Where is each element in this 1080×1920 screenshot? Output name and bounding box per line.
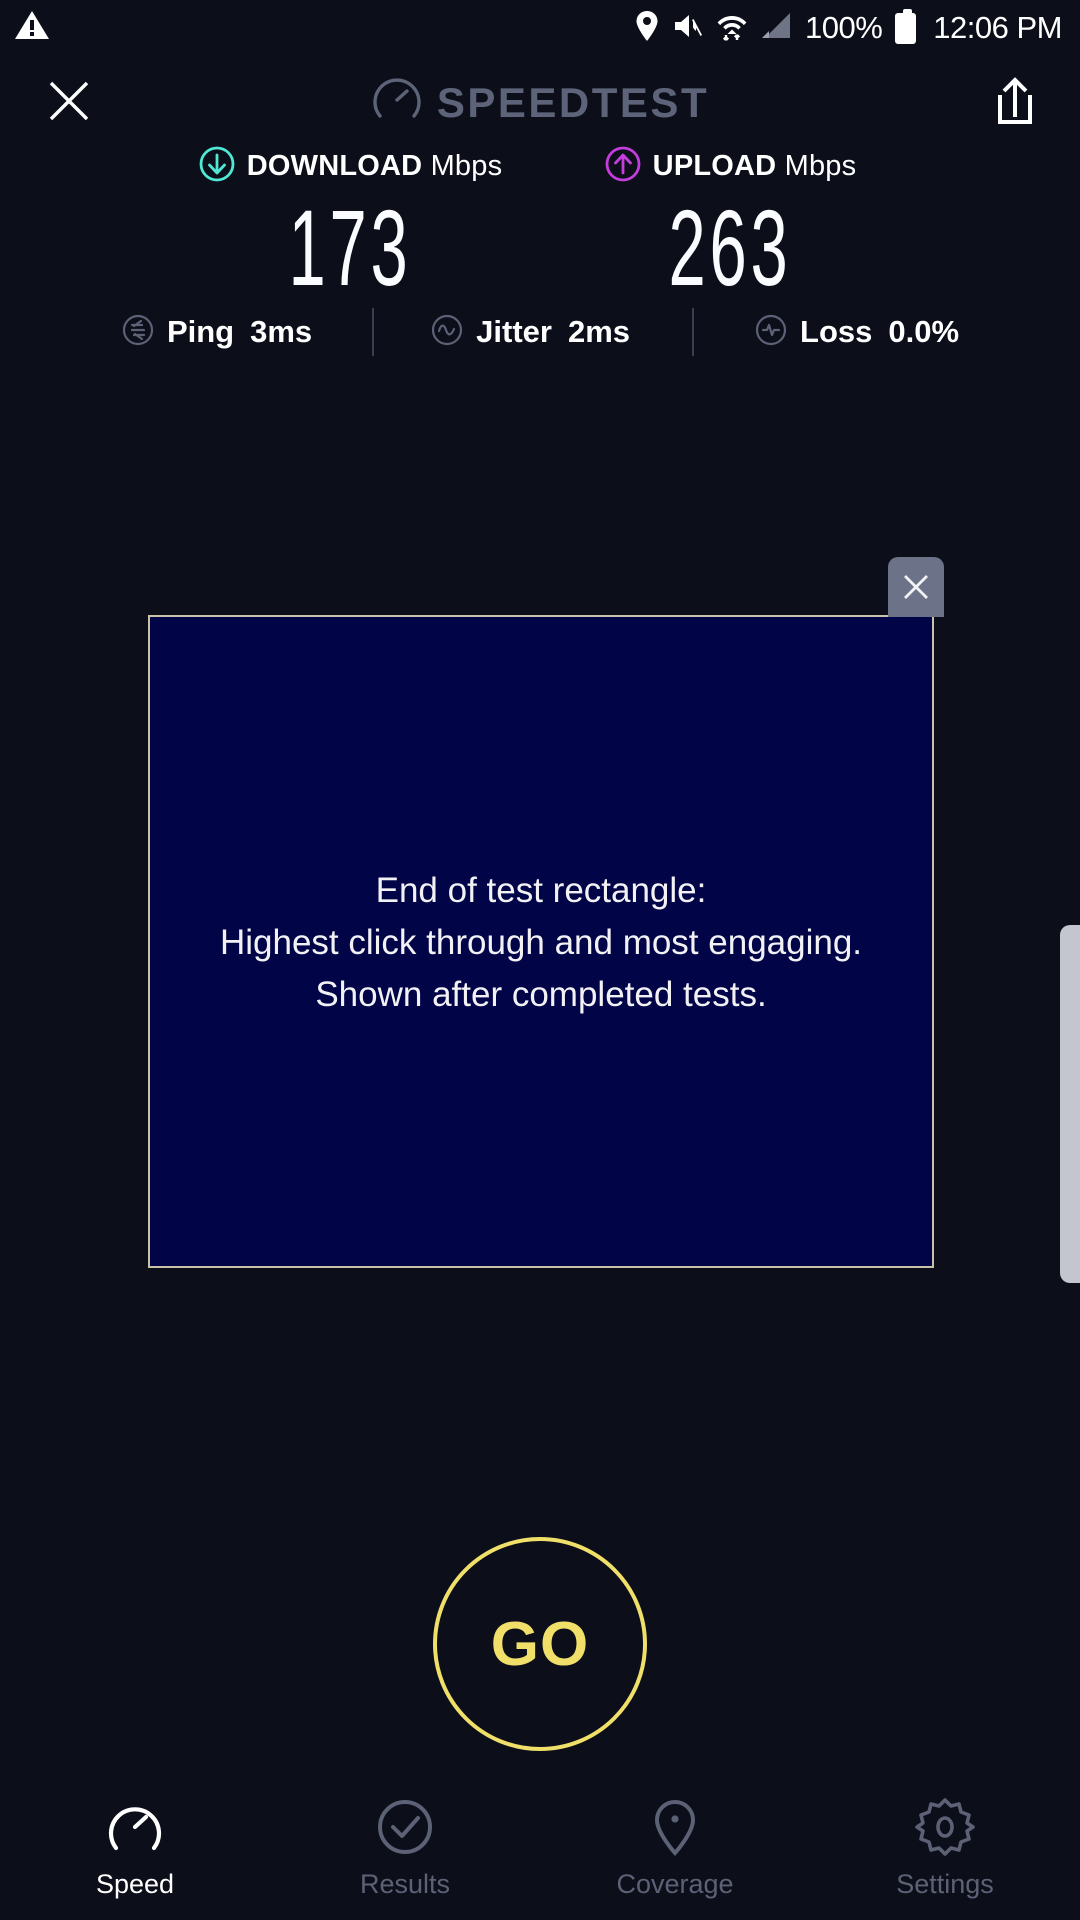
gear-icon [914, 1794, 976, 1860]
metrics-row: Ping 3ms Jitter 2ms Loss 0.0% [0, 302, 1080, 362]
speedometer-icon [371, 74, 423, 131]
ping-label: Ping [167, 314, 234, 350]
bottom-navigation: Speed Results Coverage Settings [0, 1780, 1080, 1920]
download-value: 173 [232, 194, 468, 302]
battery-percent-label: 100% [805, 10, 882, 46]
ad-creative[interactable]: End of test rectangle: Highest click thr… [148, 615, 934, 1268]
battery-full-icon [895, 13, 916, 44]
speedometer-icon [104, 1794, 166, 1860]
map-pin-icon [644, 1794, 706, 1860]
upload-value: 263 [612, 194, 848, 302]
wifi-icon [717, 10, 747, 47]
metric-divider [372, 308, 374, 356]
scrollbar[interactable] [1060, 925, 1080, 1283]
go-button-label: GO [491, 1609, 589, 1680]
status-bar-right: 100% 12:06 PM [635, 0, 1062, 56]
ad-close-button[interactable] [888, 557, 944, 617]
results-row: DOWNLOAD Mbps 173 UPLOAD Mbps 263 [0, 142, 1080, 302]
nav-label-speed: Speed [96, 1869, 174, 1900]
loss-value: 0.0% [888, 314, 959, 350]
nav-label-coverage: Coverage [616, 1869, 733, 1900]
loss-icon [754, 313, 788, 352]
check-circle-icon [374, 1794, 436, 1860]
upload-label: UPLOAD Mbps [653, 150, 857, 183]
jitter-value: 2ms [568, 314, 630, 350]
close-icon [900, 571, 932, 603]
arrow-down-circle-icon [198, 145, 236, 188]
share-button[interactable] [984, 70, 1046, 132]
warning-triangle-icon [14, 9, 50, 46]
brand-logo: SPEEDTEST [0, 74, 1080, 131]
nav-item-settings[interactable]: Settings [810, 1780, 1080, 1920]
metric-divider [692, 308, 694, 356]
ping-value: 3ms [250, 314, 312, 350]
go-button[interactable]: GO [433, 1537, 647, 1751]
location-pin-icon [635, 10, 659, 47]
clock-label: 12:06 PM [933, 10, 1062, 46]
cellular-signal-icon [760, 11, 792, 46]
arrow-up-circle-icon [604, 145, 642, 188]
status-bar: 100% 12:06 PM [0, 0, 1080, 56]
jitter-icon [430, 313, 464, 352]
volume-muted-icon [672, 11, 704, 46]
ping-icon [121, 313, 155, 352]
ad-text: End of test rectangle: Highest click thr… [148, 865, 934, 1020]
nav-label-results: Results [360, 1869, 450, 1900]
app-header: SPEEDTEST [0, 56, 1080, 146]
loss-metric: Loss 0.0% [754, 313, 959, 352]
jitter-metric: Jitter 2ms [430, 313, 630, 352]
jitter-label: Jitter [476, 314, 552, 350]
results-panel: DOWNLOAD Mbps 173 UPLOAD Mbps 263 [0, 142, 1080, 302]
nav-item-results[interactable]: Results [270, 1780, 540, 1920]
brand-title: SPEEDTEST [437, 79, 709, 127]
download-label-row: DOWNLOAD Mbps [160, 142, 540, 190]
ad-line-3: Shown after completed tests. [148, 969, 934, 1021]
nav-label-settings: Settings [896, 1869, 994, 1900]
loss-label: Loss [800, 314, 872, 350]
nav-item-speed[interactable]: Speed [0, 1780, 270, 1920]
ad-line-2: Highest click through and most engaging. [148, 917, 934, 969]
upload-label-row: UPLOAD Mbps [540, 142, 920, 190]
upload-result: UPLOAD Mbps 263 [540, 142, 920, 302]
advertisement[interactable]: End of test rectangle: Highest click thr… [148, 615, 934, 1268]
download-label: DOWNLOAD Mbps [247, 150, 503, 183]
nav-item-coverage[interactable]: Coverage [540, 1780, 810, 1920]
download-result: DOWNLOAD Mbps 173 [160, 142, 540, 302]
share-icon [991, 75, 1039, 127]
ping-metric: Ping 3ms [121, 313, 312, 352]
ad-line-1: End of test rectangle: [148, 865, 934, 917]
